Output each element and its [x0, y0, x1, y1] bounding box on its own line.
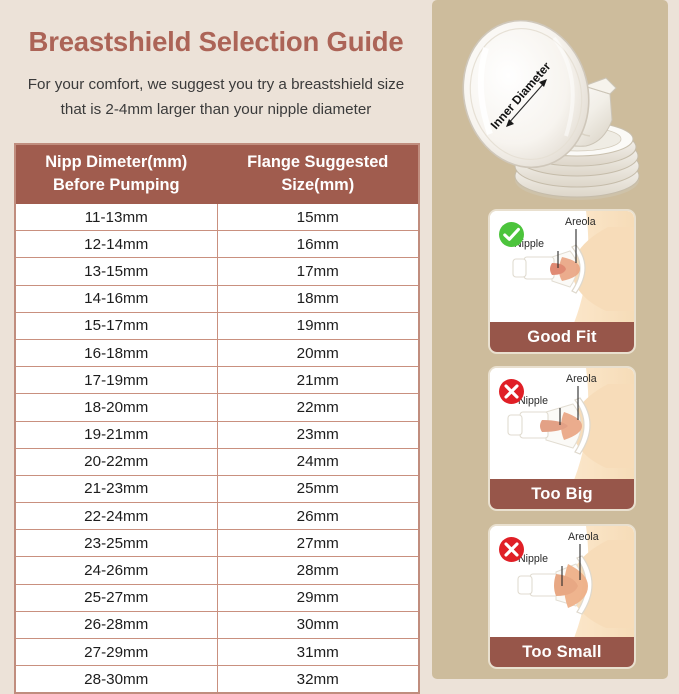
table-row: 11-13mm15mm [15, 204, 419, 231]
table-row: 15-17mm19mm [15, 312, 419, 339]
green-check-circle-icon [498, 221, 525, 248]
cell-flange-size: 16mm [217, 231, 419, 258]
column-header-nipple-diameter: Nipp Dimeter(mm) Before Pumping [15, 144, 217, 204]
cell-nipple-diameter: 17-19mm [15, 367, 217, 394]
cell-flange-size: 25mm [217, 475, 419, 502]
cell-nipple-diameter: 21-23mm [15, 475, 217, 502]
table-row: 26-28mm30mm [15, 611, 419, 638]
cell-flange-size: 22mm [217, 394, 419, 421]
fit-card-label-good: Good Fit [490, 322, 634, 352]
table-row: 20-22mm24mm [15, 448, 419, 475]
cell-nipple-diameter: 22-24mm [15, 503, 217, 530]
table-row: 13-15mm17mm [15, 258, 419, 285]
left-info-panel: Breastshield Selection Guide For your co… [0, 0, 432, 679]
cell-nipple-diameter: 18-20mm [15, 394, 217, 421]
cell-flange-size: 18mm [217, 285, 419, 312]
fit-card-label-too-big: Too Big [490, 479, 634, 509]
cell-flange-size: 19mm [217, 312, 419, 339]
table-row: 27-29mm31mm [15, 639, 419, 666]
table-row: 22-24mm26mm [15, 503, 419, 530]
subtitle-text: For your comfort, we suggest you try a b… [10, 72, 422, 122]
table-header: Nipp Dimeter(mm) Before Pumping Flange S… [15, 144, 419, 204]
page-title: Breastshield Selection Guide [0, 26, 432, 58]
cell-flange-size: 15mm [217, 204, 419, 231]
callout-areola-good: Areola [565, 216, 596, 228]
cell-nipple-diameter: 23-25mm [15, 530, 217, 557]
cell-flange-size: 27mm [217, 530, 419, 557]
cell-nipple-diameter: 14-16mm [15, 285, 217, 312]
cell-flange-size: 17mm [217, 258, 419, 285]
cell-flange-size: 32mm [217, 666, 419, 694]
callout-areola-too-small: Areola [568, 531, 599, 543]
subtitle-line-2: that is 2-4mm larger than your nipple di… [10, 97, 422, 122]
fit-card-too-small[interactable]: Nipple Areola Too Small [488, 524, 636, 669]
subtitle-line-1: For your comfort, we suggest you try a b… [10, 72, 422, 97]
callout-areola-too-big: Areola [566, 373, 597, 385]
table-row: 25-27mm29mm [15, 584, 419, 611]
cell-nipple-diameter: 13-15mm [15, 258, 217, 285]
cell-nipple-diameter: 24-26mm [15, 557, 217, 584]
column-header-flange-size-line2: Size(mm) [218, 174, 419, 197]
table-row: 17-19mm21mm [15, 367, 419, 394]
cell-flange-size: 24mm [217, 448, 419, 475]
breastshield-product-image: Inner Diameter [434, 8, 666, 204]
column-header-flange-size-line1: Flange Suggested [218, 151, 419, 174]
table-header-row: Nipp Dimeter(mm) Before Pumping Flange S… [15, 144, 419, 204]
cell-nipple-diameter: 12-14mm [15, 231, 217, 258]
right-illustration-panel: Inner Diameter [432, 0, 668, 679]
cell-nipple-diameter: 16-18mm [15, 339, 217, 366]
table-row: 14-16mm18mm [15, 285, 419, 312]
cell-nipple-diameter: 19-21mm [15, 421, 217, 448]
cell-flange-size: 20mm [217, 339, 419, 366]
cell-flange-size: 30mm [217, 611, 419, 638]
cell-nipple-diameter: 15-17mm [15, 312, 217, 339]
table-row: 12-14mm16mm [15, 231, 419, 258]
cell-nipple-diameter: 27-29mm [15, 639, 217, 666]
table-body: 11-13mm15mm12-14mm16mm13-15mm17mm14-16mm… [15, 204, 419, 694]
cell-flange-size: 31mm [217, 639, 419, 666]
red-x-circle-icon [498, 536, 525, 563]
cell-flange-size: 23mm [217, 421, 419, 448]
cell-nipple-diameter: 26-28mm [15, 611, 217, 638]
cell-nipple-diameter: 11-13mm [15, 204, 217, 231]
table-row: 21-23mm25mm [15, 475, 419, 502]
fit-card-good[interactable]: Nipple Areola Good Fit [488, 209, 636, 354]
table-row: 23-25mm27mm [15, 530, 419, 557]
cell-flange-size: 26mm [217, 503, 419, 530]
cell-nipple-diameter: 28-30mm [15, 666, 217, 694]
table-row: 18-20mm22mm [15, 394, 419, 421]
cell-flange-size: 28mm [217, 557, 419, 584]
table-row: 16-18mm20mm [15, 339, 419, 366]
fit-card-too-big[interactable]: Nipple Areola Too Big [488, 366, 636, 511]
breastshield-flange-illustration: Inner Diameter [434, 8, 666, 204]
column-header-flange-size: Flange Suggested Size(mm) [217, 144, 419, 204]
cell-flange-size: 21mm [217, 367, 419, 394]
table-row: 24-26mm28mm [15, 557, 419, 584]
size-chart-table: Nipp Dimeter(mm) Before Pumping Flange S… [14, 143, 420, 694]
red-x-circle-icon [498, 378, 525, 405]
fit-card-label-too-small: Too Small [490, 637, 634, 667]
column-header-nipple-diameter-line2: Before Pumping [16, 174, 217, 197]
cell-nipple-diameter: 25-27mm [15, 584, 217, 611]
table-row: 19-21mm23mm [15, 421, 419, 448]
cell-flange-size: 29mm [217, 584, 419, 611]
cell-nipple-diameter: 20-22mm [15, 448, 217, 475]
breastshield-selection-guide-page: Breastshield Selection Guide For your co… [0, 0, 679, 679]
table-row: 28-30mm32mm [15, 666, 419, 694]
column-header-nipple-diameter-line1: Nipp Dimeter(mm) [16, 151, 217, 174]
